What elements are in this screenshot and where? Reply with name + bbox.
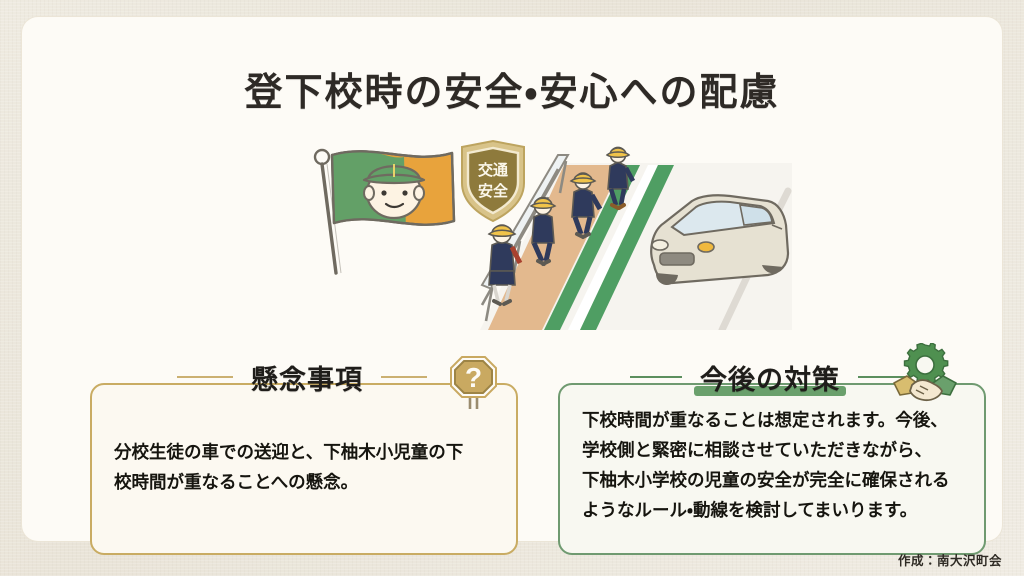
measures-body-line-4: ようなルール・動線を検討してまいります。	[582, 495, 962, 525]
measures-heading-label: 今後の対策	[692, 358, 848, 397]
svg-text:交通: 交通	[478, 161, 509, 179]
page-title: 登下校時の安全・安心への配慮	[22, 61, 1002, 116]
road-scene	[480, 147, 792, 330]
svg-text:?: ?	[465, 362, 482, 393]
measures-body-line-2: 学校側と緊密に相談させていただきながら、	[582, 435, 962, 465]
concern-card-body: 分校生徒の車での送迎と、下柚木小児童の下 校時間が重なることへの懸念。	[92, 437, 516, 497]
concern-body-line-1: 分校生徒の車での送迎と、下柚木小児童の下	[114, 437, 494, 467]
measures-card: 下校時間が重なることは想定されます。今後、 学校側と緊密に相談させていただきなが…	[558, 383, 986, 555]
handshake-gear-icon	[890, 343, 960, 408]
child-face-icon	[364, 164, 424, 218]
cards-row: 分校生徒の車での送迎と、下柚木小児童の下 校時間が重なることへの懸念。 懸念事項…	[22, 355, 1024, 555]
measures-body-line-1: 下校時間が重なることは想定されます。今後、	[582, 405, 962, 435]
traffic-safety-shield-icon: 交通 安全	[462, 141, 524, 221]
footer-credit: 作成：南大沢町会	[898, 550, 1002, 569]
svg-text:安全: 安全	[478, 182, 508, 200]
concern-heading-label: 懸念事項	[243, 358, 371, 397]
safety-flag-icon	[330, 147, 454, 231]
heading-rule-left	[177, 376, 233, 378]
handshake-part	[894, 376, 956, 400]
question-sign-icon: ?	[446, 351, 502, 418]
measures-card-body: 下校時間が重なることは想定されます。今後、 学校側と緊密に相談させていただきなが…	[560, 405, 984, 525]
heading-rule-left	[630, 376, 682, 378]
measures-body-line-3: 下柚木小学校の児童の安全が完全に確保される	[582, 465, 962, 495]
school-commute-safety-illustration: 交通 安全	[292, 135, 792, 330]
slide-panel: 登下校時の安全・安心への配慮	[22, 17, 1002, 541]
heading-rule-right	[381, 376, 427, 378]
concern-body-line-2: 校時間が重なることへの懸念。	[114, 467, 494, 497]
